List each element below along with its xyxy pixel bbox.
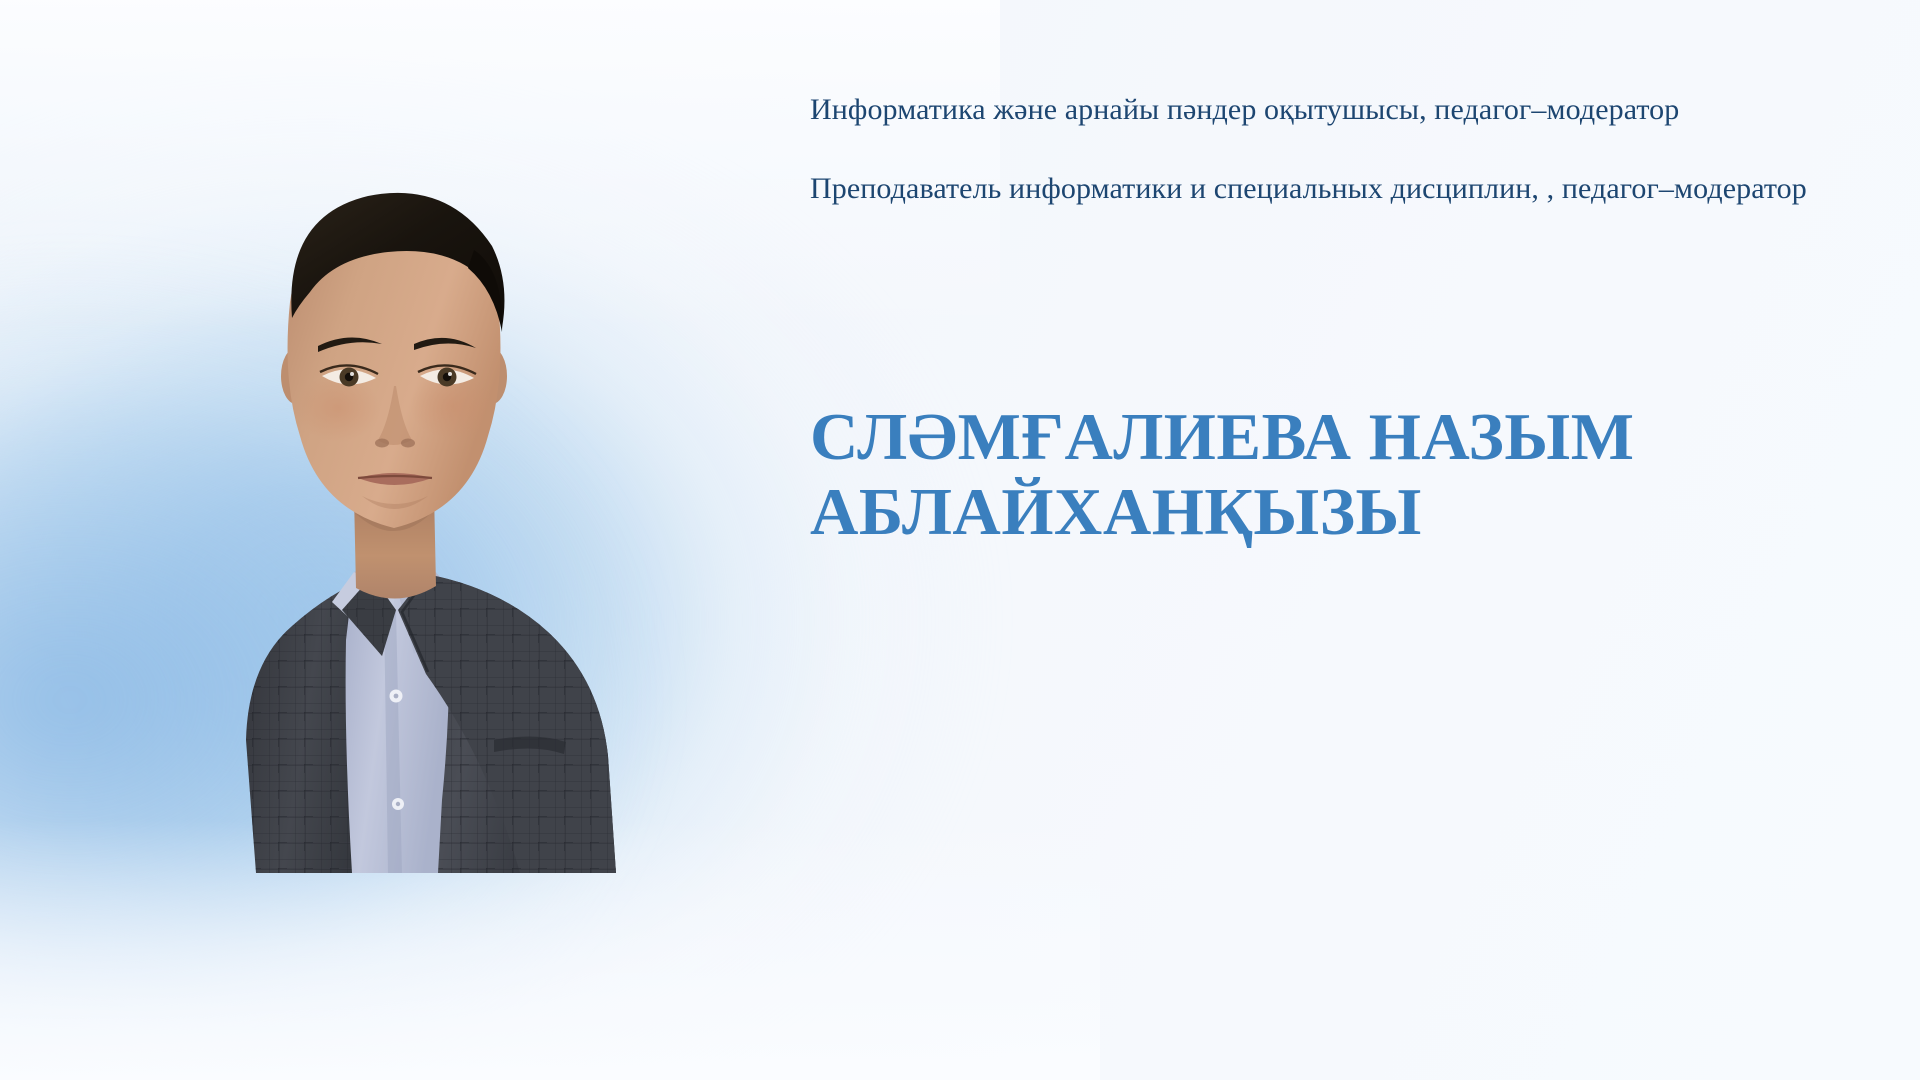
portrait-photo: [96, 140, 684, 873]
portrait-face: [288, 193, 505, 528]
page-title: СЛӘМҒАЛИЕВА НАЗЫМ АБЛАЙХАНҚЫЗЫ: [810, 400, 1710, 550]
slide-canvas: Информатика және арнайы пәндер оқытушысы…: [0, 0, 1920, 1080]
subtitle-kazakh: Информатика және арнайы пәндер оқытушысы…: [810, 92, 1822, 129]
subtitle-russian: Преподаватель информатики и специальных …: [810, 171, 1822, 208]
subtitle-block: Информатика және арнайы пәндер оқытушысы…: [810, 92, 1822, 207]
